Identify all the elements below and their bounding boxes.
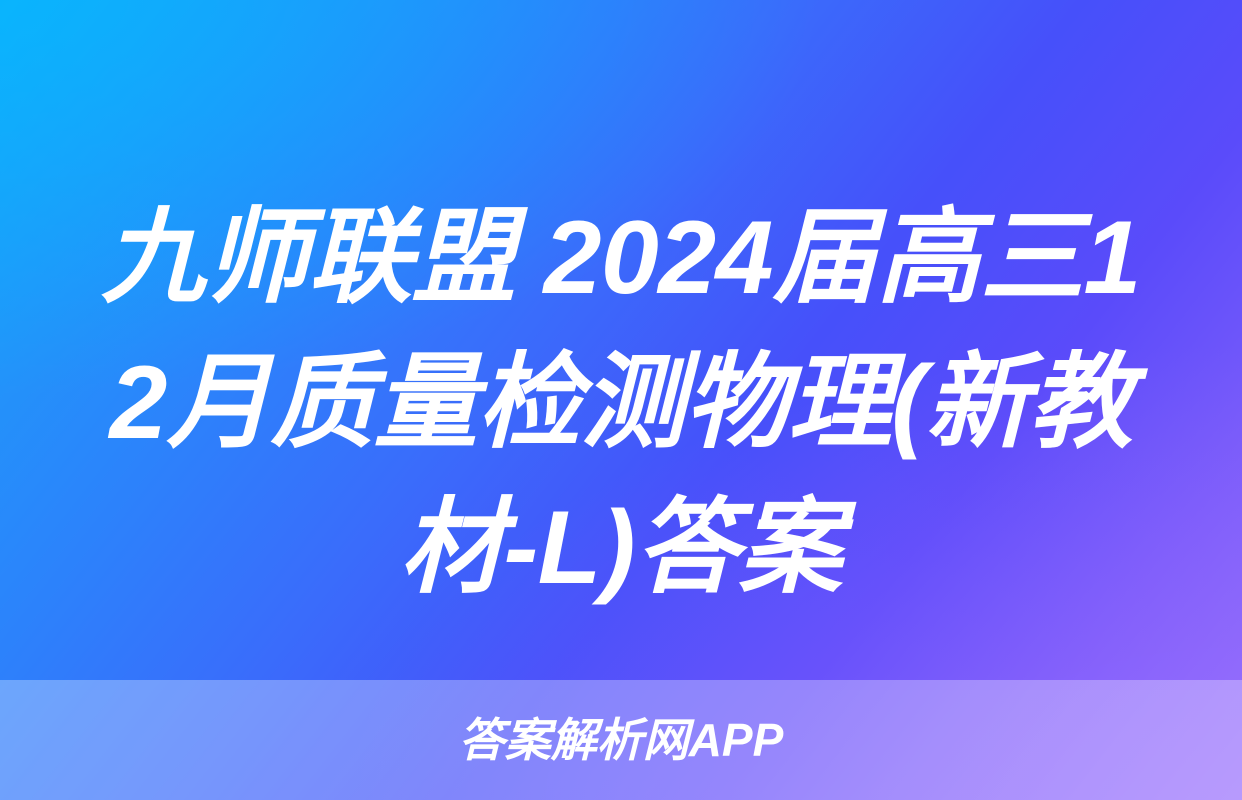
poster-title-block: 九师联盟 2024届高三12月质量检测物理(新教材-L)答案	[0, 186, 1242, 621]
page-title: 九师联盟 2024届高三12月质量检测物理(新教材-L)答案	[78, 186, 1164, 621]
watermark-label: 答案解析网APP	[459, 717, 784, 763]
poster-thumbnail: 九师联盟 2024届高三12月质量检测物理(新教材-L)答案 答案解析网APP	[0, 0, 1242, 800]
watermark-band: 答案解析网APP	[0, 680, 1242, 800]
